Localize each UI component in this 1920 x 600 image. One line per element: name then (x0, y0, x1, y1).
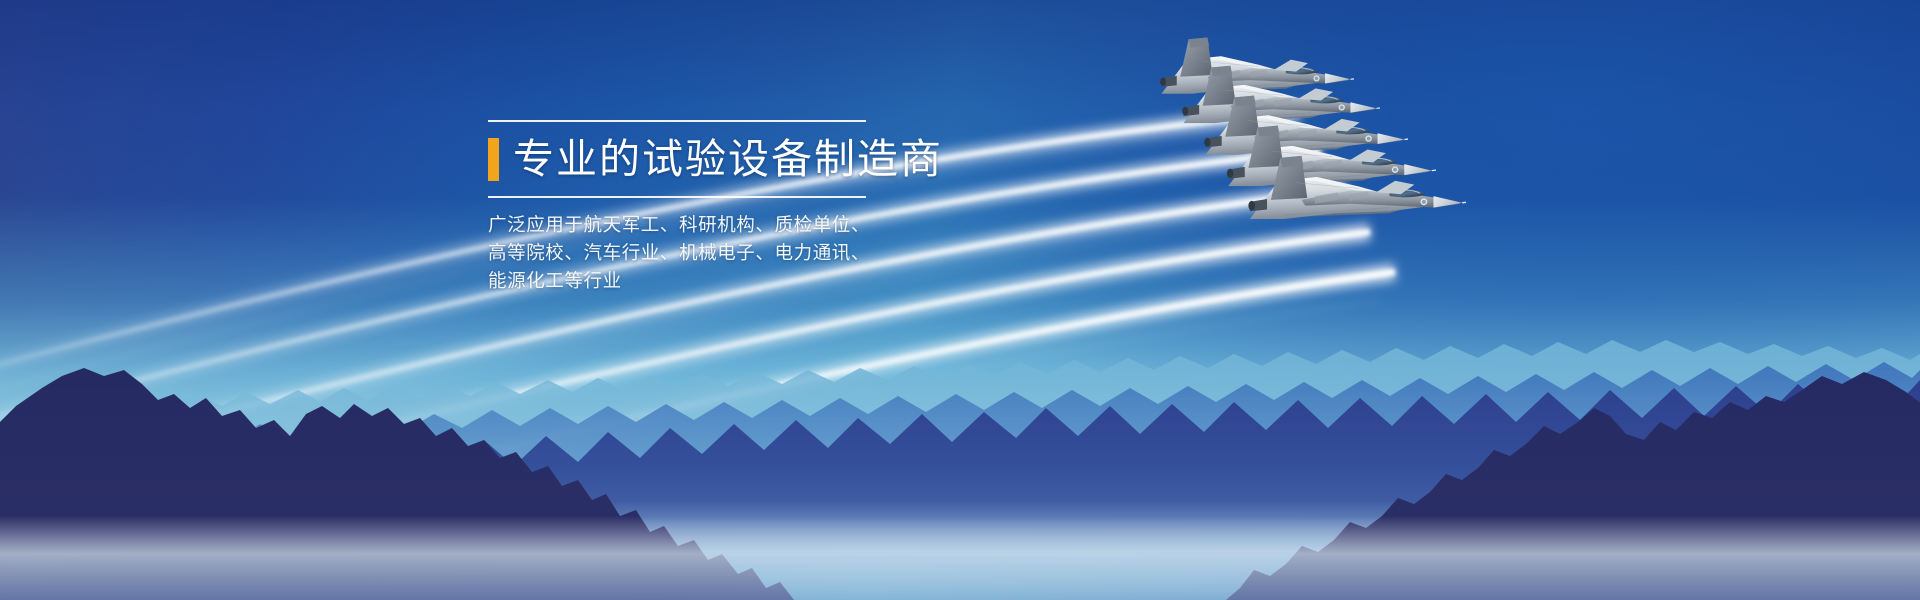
jet-5-trailing (1160, 38, 1373, 94)
subtitle-line-1: 广泛应用于航天军工、科研机构、质检单位、 (488, 211, 888, 239)
fighter-jet-formation (1120, 40, 1540, 270)
divider-under-headline (488, 196, 866, 198)
valley-haze (0, 516, 1920, 600)
accent-bar-icon (488, 138, 499, 181)
banner-copy: 专业的试验设备制造商 广泛应用于航天军工、科研机构、质检单位、 高等院校、汽车行… (488, 120, 888, 295)
hero-banner: 专业的试验设备制造商 广泛应用于航天军工、科研机构、质检单位、 高等院校、汽车行… (0, 0, 1920, 600)
subtitle-line-3: 能源化工等行业 (488, 267, 888, 295)
subtitle: 广泛应用于航天军工、科研机构、质检单位、 高等院校、汽车行业、机械电子、电力通讯… (488, 211, 888, 295)
mountain-range (0, 340, 1920, 600)
headline-row: 专业的试验设备制造商 (488, 122, 888, 196)
subtitle-line-2: 高等院校、汽车行业、机械电子、电力通讯、 (488, 239, 888, 267)
page-title: 专业的试验设备制造商 (513, 139, 943, 180)
